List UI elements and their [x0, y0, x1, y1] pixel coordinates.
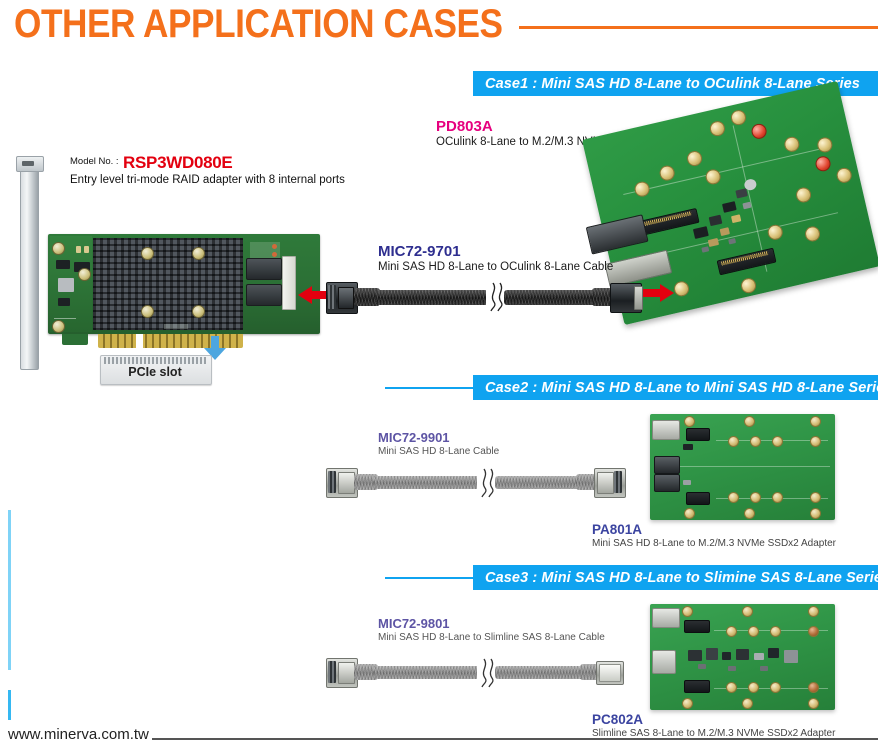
pa801a-sff-connector-2	[654, 474, 680, 492]
cable1-face-left	[338, 287, 354, 309]
raid-silk-1	[54, 318, 76, 319]
pc802a-pad-6	[748, 682, 759, 693]
pcie-slot-contacts	[104, 357, 206, 364]
pc802a-pad-3	[770, 626, 781, 637]
pcie-slot-label: PCIe slot	[100, 365, 210, 379]
mic72-9801-label: MIC72-9801 Mini SAS HD 8-Lane to Slimlin…	[378, 616, 605, 643]
cable2-body-right	[495, 476, 583, 489]
pa801a-power-connector	[652, 420, 680, 440]
heatsink-screw-6	[52, 242, 65, 255]
raid-capacitor-1	[76, 246, 81, 253]
pc802a-m2-slot-lower	[684, 680, 710, 693]
heatsink-screw-5	[192, 305, 205, 318]
raid-led-1	[272, 244, 277, 249]
cable1-face-right	[634, 286, 643, 310]
cable1-body-left	[376, 290, 488, 305]
pa801a-chip-1	[683, 444, 693, 450]
mic72-9701-code: MIC72-9701	[378, 243, 613, 260]
pa801a-pad-5	[728, 492, 739, 503]
mic72-9901-label: MIC72-9901 Mini SAS HD 8-Lane Cable	[378, 430, 499, 457]
heatsink-screw-2	[141, 247, 154, 260]
cable2-face-right	[597, 472, 614, 494]
mic72-9901-description: Mini SAS HD 8-Lane Cable	[378, 446, 499, 457]
mic72-9901-code: MIC72-9901	[378, 430, 499, 445]
pa801a-pad-8	[810, 492, 821, 503]
raid-adapter-card-image	[14, 160, 324, 375]
pc802a-pad-8	[808, 682, 819, 693]
raid-chip-2	[58, 278, 74, 292]
pc802a-slimline-connector	[652, 608, 680, 628]
pc802a-pad-4	[808, 626, 819, 637]
pc802a-code: PC802A	[592, 712, 835, 727]
raid-chip-3	[58, 298, 70, 306]
footer-divider-rule	[152, 738, 878, 740]
cable3-body-left	[374, 666, 479, 679]
cable2-break-symbol	[477, 468, 497, 498]
pa801a-silk-divider	[680, 466, 830, 467]
raid-silk-logo	[164, 324, 188, 329]
raid-heatsink-fins	[93, 238, 243, 330]
pa801a-code: PA801A	[592, 522, 836, 537]
pc802a-adapter-board-image	[650, 604, 835, 710]
pa801a-pad-9	[684, 416, 695, 427]
pc802a-pad-12	[682, 698, 693, 709]
cable2-latch-left	[328, 471, 336, 493]
mic72-9701-label: MIC72-9701 Mini SAS HD 8-Lane to OCulink…	[378, 243, 613, 273]
pc802a-m2-slot-upper	[684, 620, 710, 633]
pc802a-power-connector	[652, 650, 676, 674]
pa801a-pad-7	[772, 492, 783, 503]
pc802a-pad-2	[748, 626, 759, 637]
cable2-body-left	[374, 476, 479, 489]
mic72-9801-description: Mini SAS HD 8-Lane to Slimline SAS 8-Lan…	[378, 632, 605, 643]
cable1-body-right	[504, 290, 600, 305]
cable3-latch-left	[328, 661, 336, 683]
bracket-slot	[22, 161, 34, 166]
pa801a-pad-14	[810, 508, 821, 519]
case3-rule-left	[385, 577, 473, 579]
pc802a-label: PC802A Slimline SAS 8-Lane to M.2/M.3 NV…	[592, 712, 835, 739]
pc802a-pad-1	[726, 626, 737, 637]
pa801a-adapter-board-image	[650, 414, 835, 520]
pa801a-m2-slot-lower	[686, 492, 710, 505]
pa801a-m2-slot-upper	[686, 428, 710, 441]
cable1-break-symbol	[486, 282, 506, 312]
left-accent-bar	[8, 510, 11, 670]
cable3-break-symbol	[477, 658, 497, 688]
pa801a-pad-11	[810, 416, 821, 427]
cable2-face-left	[338, 472, 355, 494]
pc802a-component-cluster	[688, 644, 808, 674]
pc802a-pad-7	[770, 682, 781, 693]
mic72-9801-cable-image	[326, 652, 626, 692]
cable3-body-right	[495, 666, 587, 679]
pcie-fingers-notch	[136, 334, 143, 348]
pc802a-pad-5	[726, 682, 737, 693]
pc802a-pad-9	[682, 606, 693, 617]
pa801a-pad-3	[772, 436, 783, 447]
pc802a-pad-13	[742, 698, 753, 709]
mic72-9701-description: Mini SAS HD 8-Lane to OCulink 8-Lane Cab…	[378, 261, 613, 273]
pc802a-pad-11	[808, 606, 819, 617]
cable1-latch-left	[328, 285, 336, 309]
pa801a-pad-6	[750, 492, 761, 503]
pc802a-pad-14	[808, 698, 819, 709]
case2-banner: Case2 : Mini SAS HD 8-Lane to Mini SAS H…	[473, 375, 878, 400]
raid-led-2	[272, 252, 277, 257]
pcie-gold-fingers	[98, 334, 243, 348]
footer-url: www.minerva.com.tw	[8, 726, 149, 743]
raid-capacitor-2	[84, 246, 89, 253]
pc802a-pad-10	[742, 606, 753, 617]
connector-white-strip	[282, 256, 296, 310]
heatsink-screw-4	[141, 305, 154, 318]
pa801a-pad-1	[728, 436, 739, 447]
pa801a-pad-4	[810, 436, 821, 447]
pa801a-label: PA801A Mini SAS HD 8-Lane to M.2/M.3 NVM…	[592, 522, 836, 549]
pa801a-chip-2	[683, 480, 691, 485]
mic72-9801-code: MIC72-9801	[378, 616, 605, 631]
pa801a-pad-13	[744, 508, 755, 519]
heatsink-screw-1	[78, 268, 91, 281]
pa801a-pad-2	[750, 436, 761, 447]
sff-connector-upper	[246, 258, 282, 280]
heatsink-screw-3	[192, 247, 205, 260]
case2-rule-left	[385, 387, 473, 389]
raid-pcb-tab	[62, 334, 88, 345]
mic72-9901-cable-image	[326, 462, 626, 502]
raid-chip-1	[56, 260, 70, 269]
title-divider-rule	[519, 26, 878, 29]
cable3-face-right	[599, 664, 621, 682]
case3-banner: Case3 : Mini SAS HD 8-Lane to Slimine SA…	[473, 565, 878, 590]
heatsink-screw-7	[52, 320, 65, 333]
pa801a-sff-connector-1	[654, 456, 680, 474]
pa801a-pad-12	[684, 508, 695, 519]
page-title: OTHER APPLICATION CASES	[14, 2, 503, 46]
cable3-face-left	[338, 662, 355, 684]
pa801a-pad-10	[744, 416, 755, 427]
pa801a-description: Mini SAS HD 8-Lane to M.2/M.3 NVMe SSDx2…	[592, 538, 836, 549]
footer-accent-tick	[8, 690, 11, 720]
mic72-9701-cable-image	[326, 276, 644, 316]
pcie-bracket	[20, 160, 39, 370]
sff-connector-lower	[246, 284, 282, 306]
cable2-latch-right	[614, 471, 622, 493]
